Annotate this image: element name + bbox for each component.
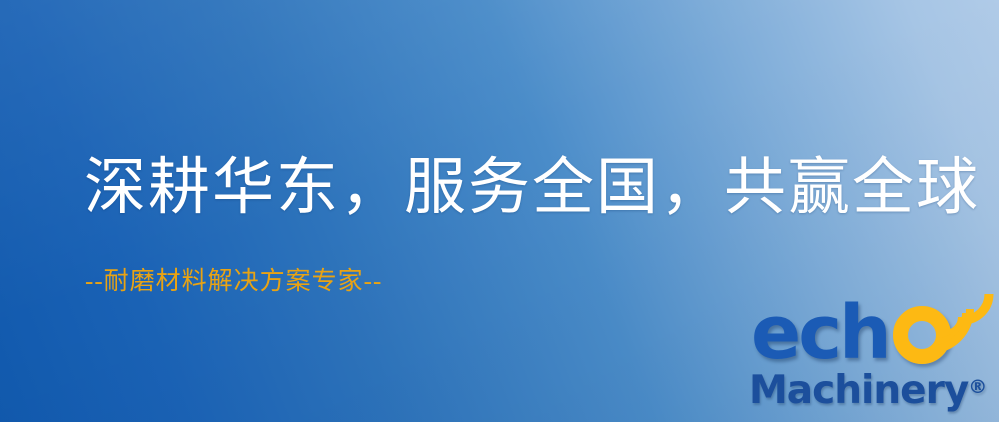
banner-headline: 深耕华东，服务全国，共赢全球	[84, 152, 980, 224]
logo-machinery-label: Machinery	[749, 368, 968, 413]
logo-machinery-text: Machinery®	[749, 368, 987, 413]
logo-wordmark: ech	[745, 296, 999, 376]
promotional-banner: 深耕华东，服务全国，共赢全球 --耐磨材料解决方案专家-- ech Machin…	[0, 0, 999, 422]
banner-subtitle: --耐磨材料解决方案专家--	[85, 267, 382, 297]
logo-echo-text: ech	[751, 290, 889, 376]
echo-machinery-logo: ech Machinery®	[745, 296, 999, 422]
wifi-signal-arcs-icon	[931, 288, 995, 350]
registered-trademark-symbol: ®	[968, 376, 987, 398]
